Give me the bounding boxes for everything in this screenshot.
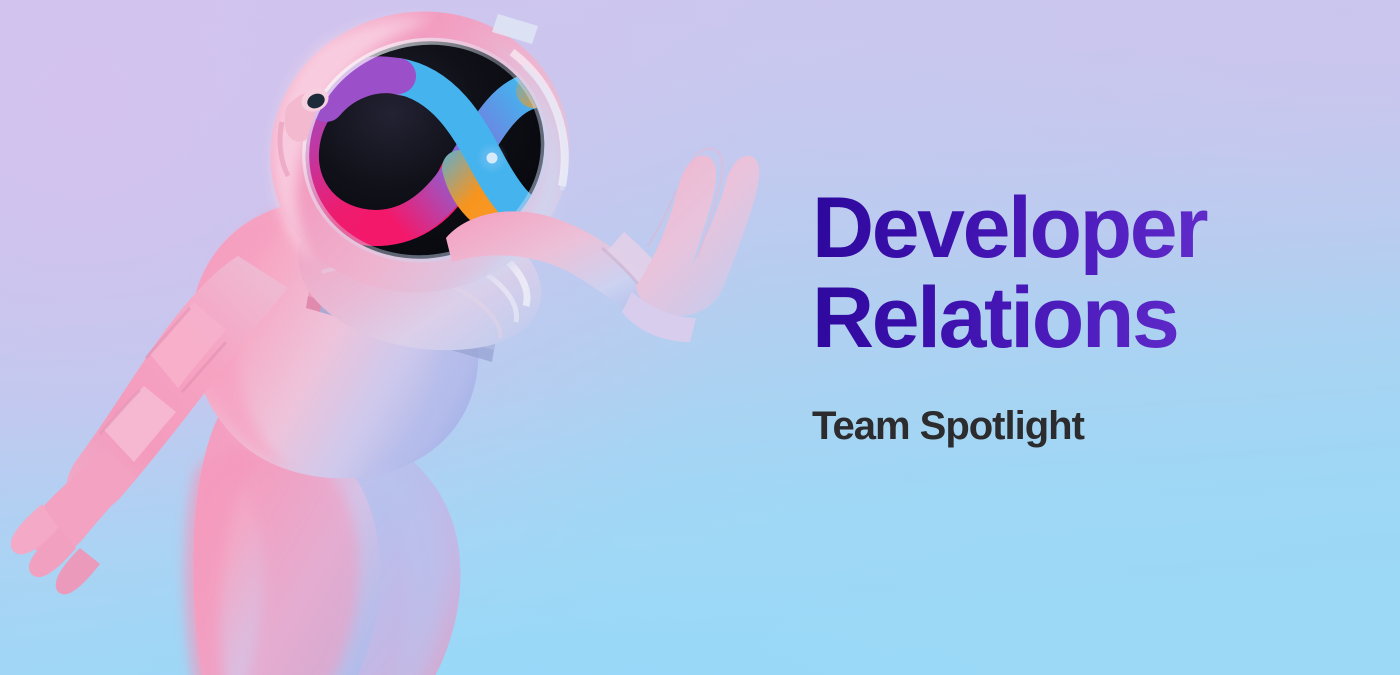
astronaut-hand-raised [622, 148, 759, 342]
astronaut-illustration [0, 0, 760, 675]
subtitle: Team Spotlight [812, 405, 1332, 447]
developer-relations-banner: Developer Relations Team Spotlight [0, 0, 1400, 675]
text-block: Developer Relations Team Spotlight [812, 186, 1332, 447]
page-title: Developer Relations [812, 186, 1332, 361]
headline-line-1: Developer [812, 186, 1332, 271]
headline-line-2: Relations [812, 276, 1332, 361]
